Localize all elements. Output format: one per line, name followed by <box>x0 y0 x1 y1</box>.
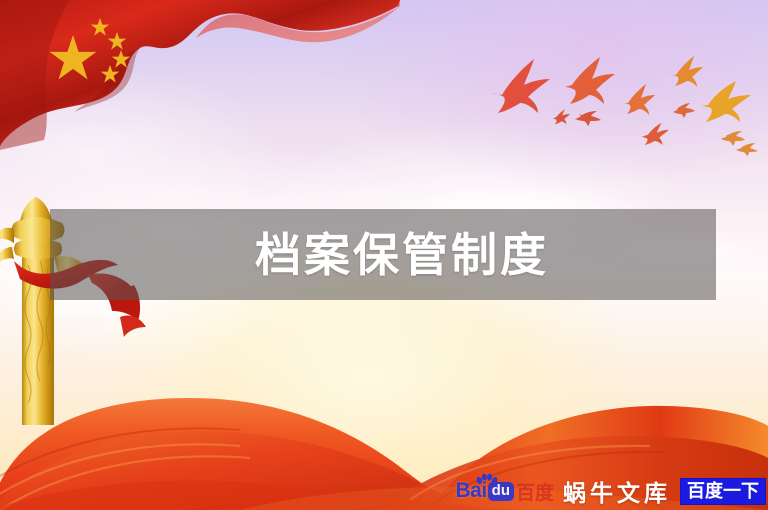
watermark-bar: Bai du 百度 蜗牛文库 百度一下 <box>455 476 768 506</box>
baidu-chinese-text: 百度 <box>516 478 554 505</box>
page-title: 档案保管制度 <box>255 232 549 278</box>
image-canvas: 档案保管制度 Bai du 百度 蜗牛文库 百度一下 <box>0 0 768 510</box>
title-banner: 档案保管制度 <box>50 209 716 300</box>
baidu-logo[interactable]: Bai du 百度 <box>455 478 554 504</box>
site-name-label: 蜗牛文库 <box>563 474 671 508</box>
paw-print-icon <box>476 473 498 487</box>
chinese-flag <box>0 0 400 160</box>
baidu-search-button[interactable]: 百度一下 <box>680 478 766 505</box>
flying-birds-flock <box>480 45 768 165</box>
